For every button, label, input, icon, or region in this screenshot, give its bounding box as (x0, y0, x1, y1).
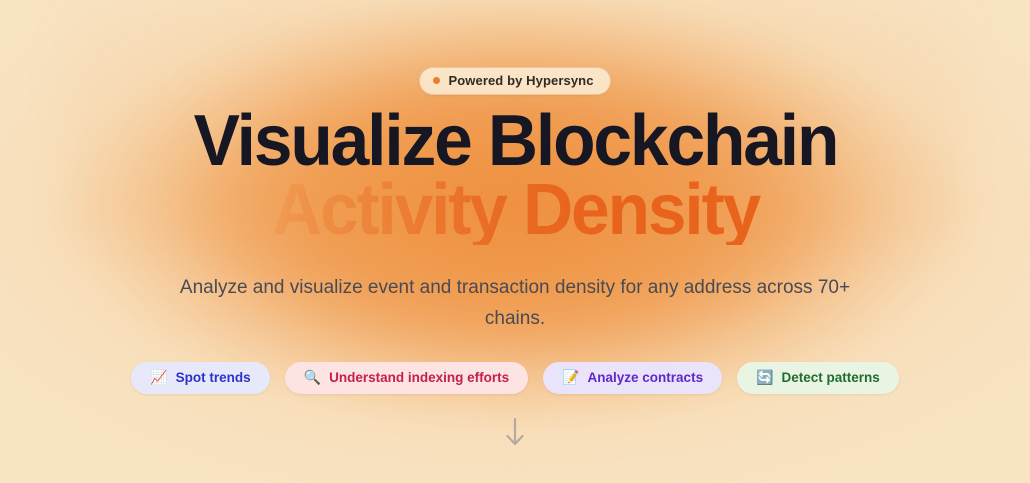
feature-pill-label: Analyze contracts (588, 371, 704, 385)
refresh-icon: 🔄 (756, 371, 773, 385)
hero-section: Powered by Hypersync Visualize Blockchai… (0, 0, 1030, 483)
page-title-line-2: Activity Density (193, 176, 837, 245)
memo-icon: 📝 (562, 371, 579, 385)
hero-content: Powered by Hypersync Visualize Blockchai… (0, 0, 1030, 483)
feature-pill-spot-trends[interactable]: 📈 Spot trends (131, 362, 269, 394)
feature-pill-row: 📈 Spot trends 🔍 Understand indexing effo… (131, 362, 899, 394)
feature-pill-detect-patterns[interactable]: 🔄 Detect patterns (737, 362, 899, 394)
dot-icon (433, 77, 440, 84)
magnifying-glass-icon: 🔍 (304, 371, 321, 385)
feature-pill-analyze-contracts[interactable]: 📝 Analyze contracts (543, 362, 722, 394)
feature-pill-label: Understand indexing efforts (329, 371, 509, 385)
page-subtitle: Analyze and visualize event and transact… (165, 272, 865, 334)
page-title: Visualize Blockchain Activity Density (182, 107, 849, 245)
powered-by-badge: Powered by Hypersync (419, 67, 610, 95)
chart-increasing-icon: 📈 (150, 371, 167, 385)
arrow-down-icon[interactable] (502, 416, 528, 450)
page-title-line-1: Visualize Blockchain (193, 107, 837, 176)
feature-pill-label: Detect patterns (782, 371, 880, 385)
feature-pill-understand-indexing-efforts[interactable]: 🔍 Understand indexing efforts (285, 362, 528, 394)
powered-by-badge-label: Powered by Hypersync (448, 73, 593, 88)
feature-pill-label: Spot trends (176, 371, 251, 385)
